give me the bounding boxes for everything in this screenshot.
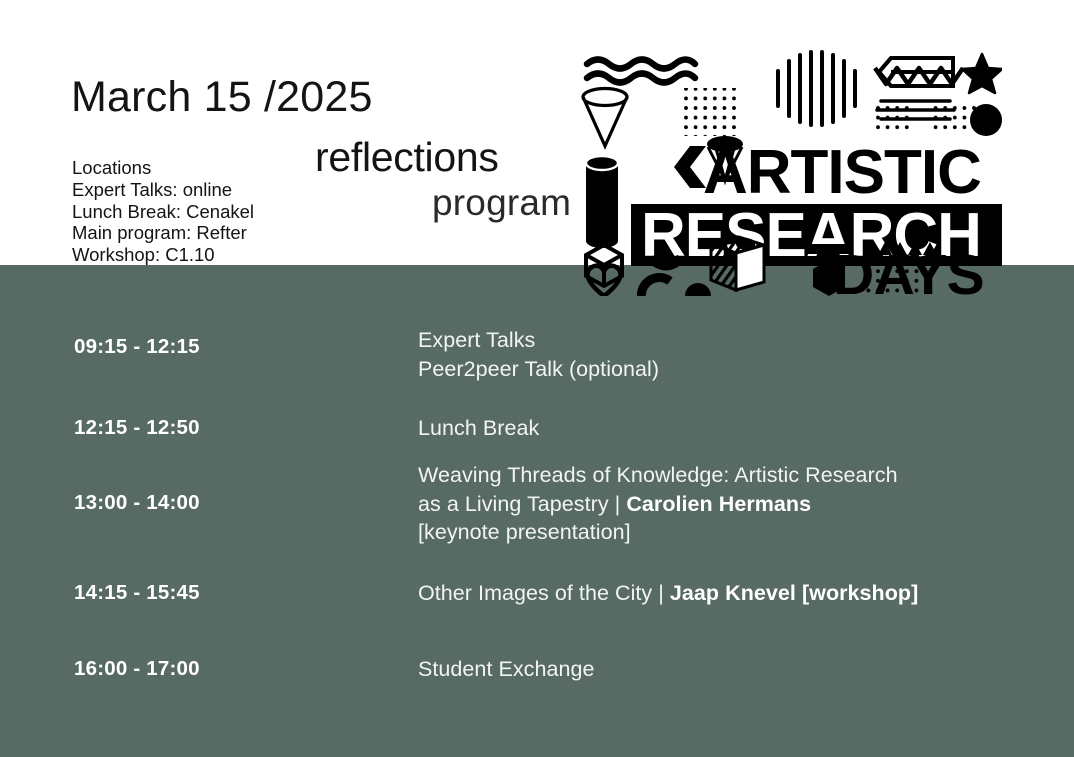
row-time: 16:00 - 17:00 xyxy=(74,657,200,681)
locations-block: Locations Expert Talks: online Lunch Bre… xyxy=(72,157,254,266)
row-line-text: Other Images of the City | xyxy=(418,581,670,605)
circle-filled-icon xyxy=(970,104,1002,136)
row-description: Other Images of the City | Jaap Knevel [… xyxy=(418,579,918,608)
row-line: Expert Talks xyxy=(418,326,659,355)
row-time: 09:15 - 12:15 xyxy=(74,335,200,359)
location-line: Expert Talks: online xyxy=(72,179,254,201)
row-line: [keynote presentation] xyxy=(418,518,898,547)
artistic-research-days-logo: ARTISTIC RESEARCH xyxy=(578,48,1002,296)
chevron-left-icon xyxy=(674,146,706,188)
reflections-wordmark: reflections xyxy=(315,134,499,181)
program-schedule: 09:15 - 12:15 Expert Talks Peer2peer Tal… xyxy=(0,265,1074,757)
row-line-emphasis: Jaap Knevel [workshop] xyxy=(670,581,918,605)
location-line: Main program: Refter xyxy=(72,222,254,244)
locations-heading: Locations xyxy=(72,157,254,179)
poster-canvas: March 15 /2025 Locations Expert Talks: o… xyxy=(0,0,1074,757)
row-line-text: as a Living Tapestry | xyxy=(418,492,626,516)
wave-lines-icon xyxy=(587,60,695,83)
row-description: Student Exchange xyxy=(418,655,595,684)
row-time: 14:15 - 15:45 xyxy=(74,581,200,605)
logo-line-artistic: ARTISTIC xyxy=(703,138,981,207)
cone-outline-icon xyxy=(583,89,627,147)
page-title: March 15 /2025 xyxy=(71,73,373,122)
location-line: Workshop: C1.10 xyxy=(72,244,254,266)
row-time: 12:15 - 12:50 xyxy=(74,416,200,440)
row-line-emphasis: Carolien Hermans xyxy=(626,492,811,516)
row-line: Lunch Break xyxy=(418,414,539,443)
location-line: Lunch Break: Cenakel xyxy=(72,201,254,223)
row-line: Weaving Threads of Knowledge: Artistic R… xyxy=(418,461,898,490)
program-wordmark: program xyxy=(432,182,571,224)
row-line: Peer2peer Talk (optional) xyxy=(418,355,659,384)
striped-circle-icon xyxy=(778,52,855,125)
row-line: as a Living Tapestry | Carolien Hermans xyxy=(418,490,898,519)
row-time: 13:00 - 14:00 xyxy=(74,491,200,515)
row-line: Other Images of the City | Jaap Knevel [… xyxy=(418,579,918,608)
cylinder-icon xyxy=(586,156,618,248)
dot-grid-small-icon xyxy=(680,88,738,136)
row-description: Lunch Break xyxy=(418,414,539,443)
row-line: Student Exchange xyxy=(418,655,595,684)
row-description: Expert Talks Peer2peer Talk (optional) xyxy=(418,326,659,383)
star-icon xyxy=(962,54,1002,93)
row-description: Weaving Threads of Knowledge: Artistic R… xyxy=(418,461,898,547)
